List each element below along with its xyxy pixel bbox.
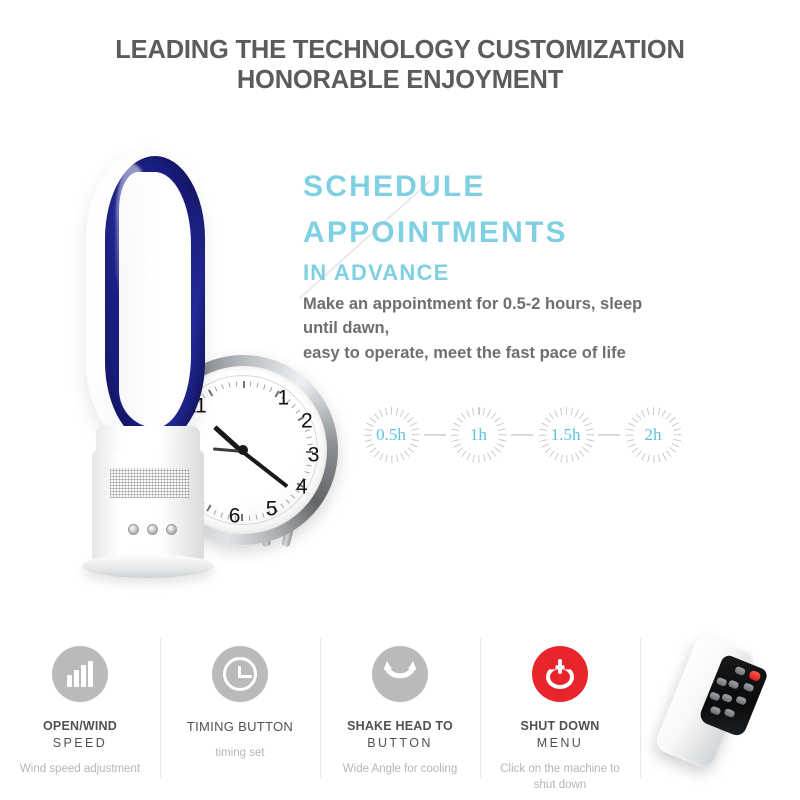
description-line-3: easy to operate, meet the fast pace of l… — [303, 341, 773, 365]
clock-number-1: 1 — [277, 387, 289, 408]
clock-center-cap — [238, 445, 248, 455]
clock-number-3: 3 — [308, 445, 320, 466]
remote-power-button — [748, 670, 762, 682]
headline-line-3: IN ADVANCE — [303, 262, 773, 284]
timer-option-label: 2h — [624, 406, 682, 464]
remote-button-5 — [735, 695, 747, 705]
clock-number-6: 6 — [229, 505, 241, 526]
page-title: SCHEDULE APPOINTMENTS IN ADVANCE — [303, 172, 773, 284]
remote-button-2 — [743, 682, 755, 692]
banner-heading: LEADING THE TECHNOLOGY CUSTOMIZATION HON… — [0, 36, 800, 95]
clock-icon — [212, 646, 268, 702]
fan-base-body — [92, 450, 204, 562]
clock-tick — [241, 514, 243, 521]
timer-option-0-5h[interactable]: 0.5h — [362, 406, 420, 464]
hero-product-image: 1 2 3 4 5 6 10 11 — [78, 150, 328, 590]
timer-option-2h[interactable]: 2h — [624, 406, 682, 464]
fan-intake-grille — [110, 468, 190, 498]
feature-title-3-main: SHAKE HEAD TO — [347, 719, 453, 733]
feature-desc-3: Wide Angle for cooling — [343, 761, 457, 777]
power-icon — [532, 646, 588, 702]
clock-tick — [228, 382, 230, 387]
description-text: Make an appointment for 0.5-2 hours, sle… — [303, 292, 773, 365]
clock-tick — [305, 471, 310, 473]
clock-tick — [296, 410, 301, 414]
feature-desc-1: Wind speed adjustment — [20, 761, 140, 777]
fan-button-2 — [147, 524, 158, 535]
feature-title-2-main: TIMING BUTTON — [187, 719, 293, 734]
timer-option-label: 1.5h — [537, 406, 595, 464]
feature-row: OPEN/WIND SPEED Wind speed adjustment TI… — [0, 632, 800, 800]
clock-tick — [269, 387, 272, 392]
timer-connector-dash — [424, 434, 446, 436]
clock-tick — [256, 515, 258, 520]
headline-line-2: APPOINTMENTS — [303, 218, 773, 248]
timer-connector-dash — [511, 434, 533, 436]
feature-title-1-main: OPEN/WIND — [43, 719, 117, 733]
remote-button-9 — [709, 706, 721, 716]
clock-number-2: 2 — [301, 411, 313, 432]
feature-title-3: SHAKE HEAD TO BUTTON — [347, 718, 453, 752]
feature-title-2: TIMING BUTTON — [187, 718, 293, 736]
description-line-1: Make an appointment for 0.5-2 hours, sle… — [303, 292, 773, 316]
feature-desc-2: timing set — [215, 745, 264, 761]
clock-tick — [263, 384, 265, 389]
remote-button-7 — [709, 691, 721, 701]
timer-option-label: 0.5h — [362, 406, 420, 464]
timer-option-1h[interactable]: 1h — [449, 406, 507, 464]
clock-tick — [236, 381, 238, 386]
clock-number-4: 4 — [296, 476, 308, 497]
feature-title-1-sub: SPEED — [43, 735, 117, 752]
remote-button-1 — [734, 666, 746, 676]
feature-title-4-main: SHUT DOWN — [521, 719, 600, 733]
description-line-2: until dawn, — [303, 316, 773, 340]
banner-line-2: HONORABLE ENJOYMENT — [0, 66, 800, 96]
timer-option-1-5h[interactable]: 1.5h — [537, 406, 595, 464]
feature-shut-down[interactable]: SHUT DOWN MENU Click on the machine to s… — [480, 632, 640, 800]
remote-button-6 — [721, 693, 733, 703]
clock-tick — [291, 494, 295, 498]
timer-connector-dash — [598, 434, 620, 436]
fan-foot-disc — [82, 554, 214, 578]
banner-line-1: LEADING THE TECHNOLOGY CUSTOMIZATION — [115, 36, 684, 64]
remote-button-3 — [728, 679, 740, 689]
feature-title-1: OPEN/WIND SPEED — [43, 718, 117, 752]
feature-title-4: SHUT DOWN MENU — [521, 718, 600, 752]
oscillate-smile-icon — [372, 646, 428, 702]
feature-timing-button[interactable]: TIMING BUTTON timing set — [160, 632, 320, 800]
fan-outer-loop — [86, 150, 204, 450]
clock-tick — [280, 504, 284, 509]
clock-tick — [307, 436, 312, 438]
feature-remote-control[interactable] — [640, 632, 800, 800]
remote-button-4 — [716, 677, 728, 687]
clock-tick — [257, 383, 259, 388]
timer-options-row: 0.5h1h1.5h2h — [362, 404, 682, 466]
clock-tick — [250, 381, 252, 386]
feature-shake-head[interactable]: SHAKE HEAD TO BUTTON Wide Angle for cool… — [320, 632, 480, 800]
remote-control-photo — [630, 622, 782, 783]
clock-tick — [286, 499, 290, 503]
clock-number-5: 5 — [266, 498, 278, 519]
headline-line-1: SCHEDULE — [303, 172, 773, 202]
remote-body — [653, 633, 757, 771]
clock-tick — [243, 381, 245, 388]
fan-control-buttons — [128, 524, 186, 536]
feature-title-3-sub: BUTTON — [347, 735, 453, 752]
feature-open-wind-speed[interactable]: OPEN/WIND SPEED Wind speed adjustment — [0, 632, 160, 800]
feature-title-4-sub: MENU — [521, 735, 600, 752]
timer-option-label: 1h — [449, 406, 507, 464]
remote-button-8 — [724, 708, 736, 718]
fan-loop-highlight — [116, 164, 150, 314]
fan-button-3 — [166, 524, 177, 535]
clock-tick — [291, 404, 295, 408]
product-infographic-page: LEADING THE TECHNOLOGY CUSTOMIZATION HON… — [0, 0, 800, 800]
fan-button-1 — [128, 524, 139, 535]
remote-keypad-panel — [698, 653, 769, 738]
bladeless-fan-photo — [78, 150, 228, 590]
clock-tick — [249, 516, 251, 521]
bar-chart-icon — [52, 646, 108, 702]
feature-desc-4: Click on the machine to shut down — [494, 761, 626, 793]
clock-tick — [262, 513, 264, 518]
